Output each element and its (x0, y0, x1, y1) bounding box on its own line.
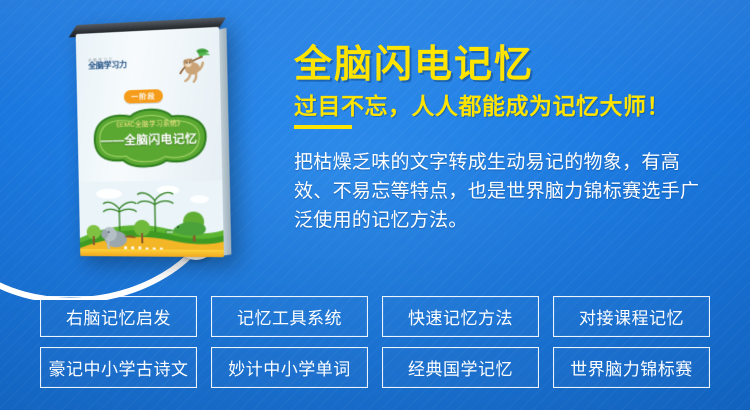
product-artwork: 1 全 脑 学 习 力 全脑学习力 (0, 0, 290, 300)
description-paragraph: 把枯燥乏味的文字转成生动易记的物象，有高效、不易忘等特点，也是世界脑力锦标赛选手… (294, 149, 714, 236)
feature-tag[interactable]: 经典国学记忆 (382, 347, 539, 388)
title-underline (294, 125, 352, 129)
stage-pill-label: 一阶段 (124, 89, 163, 104)
promo-banner: 1 全 脑 学 习 力 全脑学习力 (0, 0, 750, 410)
feature-tag[interactable]: 对接课程记忆 (553, 296, 710, 337)
product-box-front: 全 脑 学 习 力 全脑学习力 (76, 27, 224, 257)
jungle-scene-illustration (79, 180, 224, 257)
feature-tag[interactable]: 右脑记忆启发 (40, 296, 197, 337)
product-box-bottom-strip (80, 249, 224, 257)
feature-tag[interactable]: 世界脑力锦标赛 (553, 347, 710, 388)
monkey-icon (173, 46, 214, 85)
page-title: 全脑闪电记忆 (294, 46, 734, 84)
brand-logo: 全 脑 学 习 力 全脑学习力 (88, 53, 151, 76)
brand-logo-main: 全脑学习力 (88, 60, 151, 71)
page-subtitle: 过目不忘，人人都能成为记忆大师！ (294, 93, 734, 119)
feature-tag[interactable]: 豪记中小学古诗文 (40, 347, 197, 388)
hero-copy: 全脑闪电记忆 过目不忘，人人都能成为记忆大师！ 把枯燥乏味的文字转成生动易记的物… (294, 46, 734, 236)
feature-tag-grid: 右脑记忆启发 记忆工具系统 快速记忆方法 对接课程记忆 豪记中小学古诗文 妙计中… (40, 296, 710, 388)
feature-tag[interactable]: 记忆工具系统 (211, 296, 368, 337)
feature-tag[interactable]: 快速记忆方法 (382, 296, 539, 337)
product-name-label: ——全脑闪电记忆 (78, 130, 222, 149)
product-box: 全 脑 学 习 力 全脑学习力 (76, 27, 224, 257)
feature-tag[interactable]: 妙计中小学单词 (211, 347, 368, 388)
